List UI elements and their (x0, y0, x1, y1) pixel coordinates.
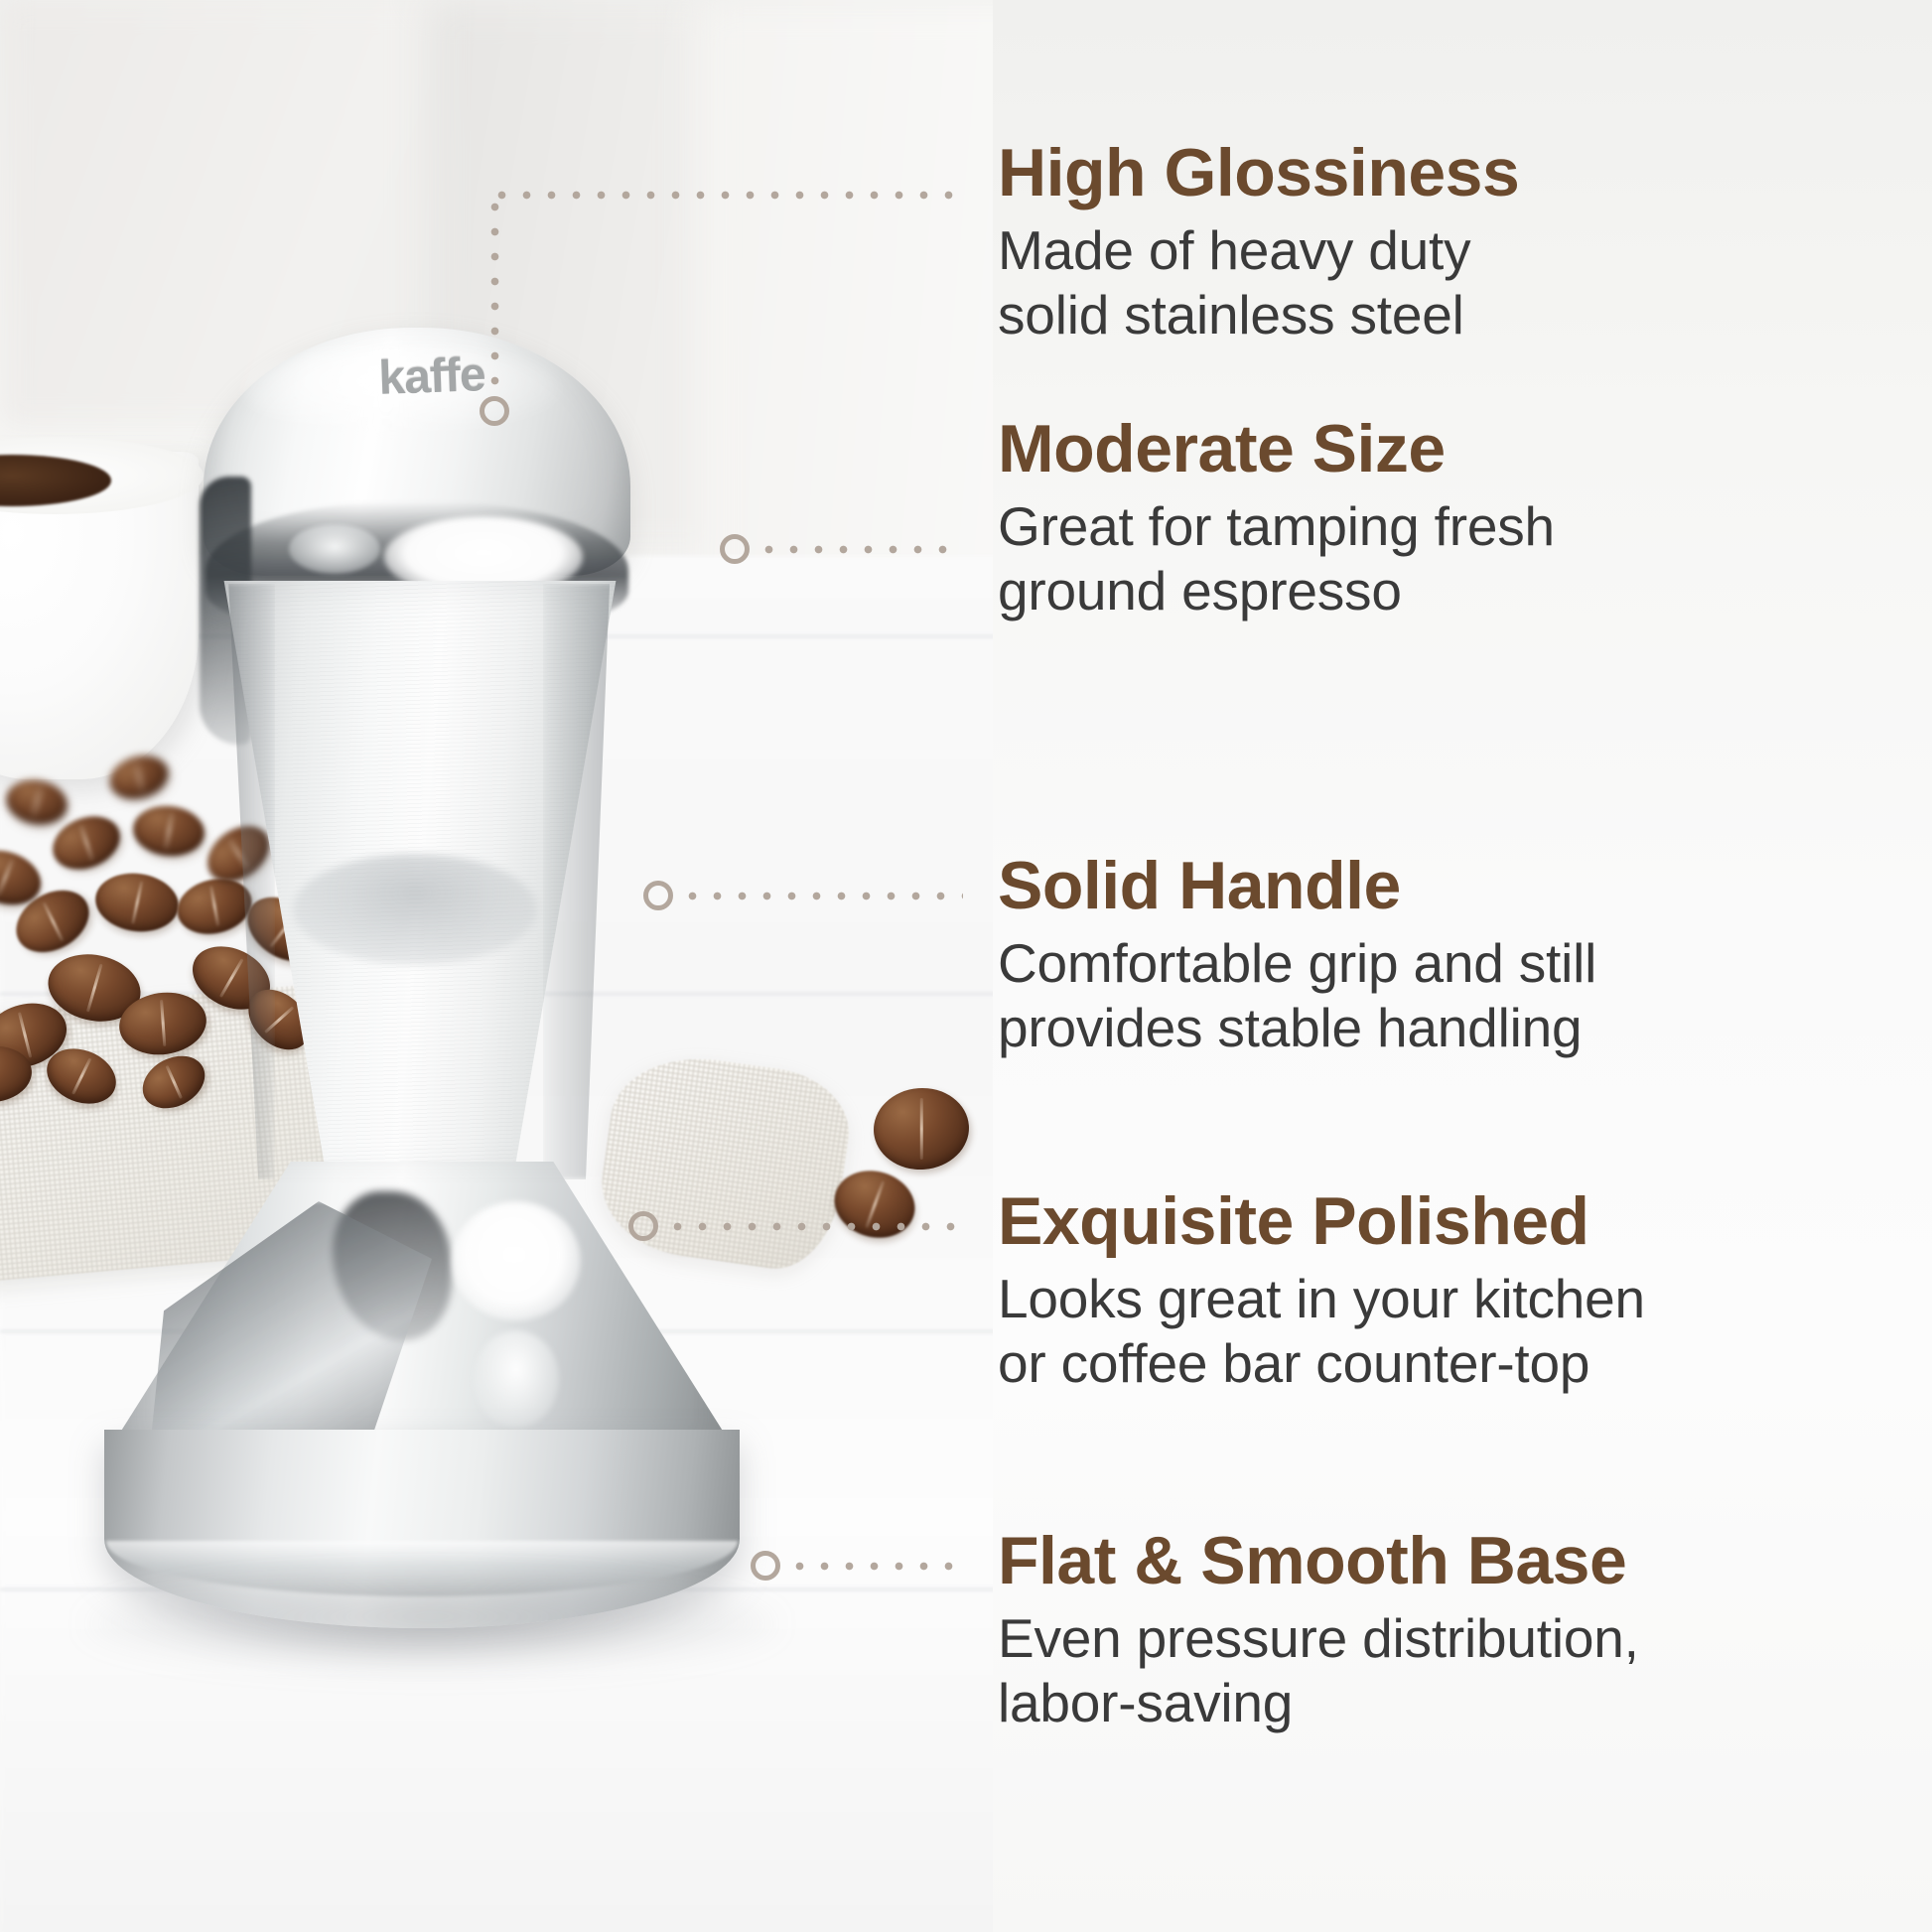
tamper-waist-reflection (293, 854, 537, 965)
feature-desc-line: or coffee bar counter-top (998, 1331, 1921, 1396)
feature-title-2: Moderate Size (998, 415, 1921, 483)
feature-block-4: Exquisite Polished Looks great in your k… (998, 1187, 1921, 1396)
feature-title-5: Flat & Smooth Base (998, 1527, 1921, 1594)
tamper-stem-right-shading (543, 584, 628, 1179)
infographic-canvas: kaffe (0, 0, 1932, 1932)
tamper-ground-shadow (84, 1581, 779, 1670)
callout-line-1-vertical (489, 195, 500, 393)
feature-desc-line: labor-saving (998, 1671, 1921, 1735)
callout-marker-5[interactable] (751, 1551, 780, 1581)
feature-description-1: Made of heavy duty solid stainless steel (998, 218, 1921, 347)
feature-description-5: Even pressure distribution, labor-saving (998, 1606, 1921, 1735)
feature-desc-line: Even pressure distribution, (998, 1606, 1921, 1671)
feature-desc-line: ground espresso (998, 559, 1921, 623)
feature-desc-line: Great for tamping fresh (998, 494, 1921, 559)
feature-title-4: Exquisite Polished (998, 1187, 1921, 1255)
feature-description-4: Looks great in your kitchen or coffee ba… (998, 1267, 1921, 1396)
feature-desc-line: solid stainless steel (998, 283, 1921, 347)
feature-block-1: High Glossiness Made of heavy duty solid… (998, 139, 1921, 347)
callout-line-3 (680, 891, 963, 901)
feature-block-2: Moderate Size Great for tamping fresh gr… (998, 415, 1921, 623)
feature-title-1: High Glossiness (998, 139, 1921, 207)
callout-line-5 (787, 1561, 964, 1572)
feature-desc-line: provides stable handling (998, 996, 1921, 1060)
callout-marker-3[interactable] (643, 881, 673, 910)
tamper-cone-highlight-lower (474, 1330, 559, 1428)
callout-line-2 (757, 544, 963, 555)
feature-description-3: Comfortable grip and still provides stab… (998, 931, 1921, 1060)
feature-desc-line: Comfortable grip and still (998, 931, 1921, 996)
callout-line-1-horizontal (489, 190, 961, 201)
feature-description-2: Great for tamping fresh ground espresso (998, 494, 1921, 623)
feature-desc-line: Looks great in your kitchen (998, 1267, 1921, 1331)
callout-marker-2[interactable] (720, 534, 750, 564)
tamper-cone-highlight-upper (452, 1201, 581, 1320)
callout-marker-1[interactable] (480, 396, 509, 426)
feature-title-3: Solid Handle (998, 852, 1921, 919)
brand-logo: kaffe (302, 345, 562, 408)
feature-block-5: Flat & Smooth Base Even pressure distrib… (998, 1527, 1921, 1735)
callout-line-4 (665, 1221, 963, 1232)
callout-marker-4[interactable] (628, 1211, 658, 1241)
feature-block-3: Solid Handle Comfortable grip and still … (998, 852, 1921, 1060)
feature-desc-line: Made of heavy duty (998, 218, 1921, 283)
tamper-handle-small-highlight (289, 524, 380, 574)
espresso-tamper-product: kaffe (94, 328, 769, 1638)
